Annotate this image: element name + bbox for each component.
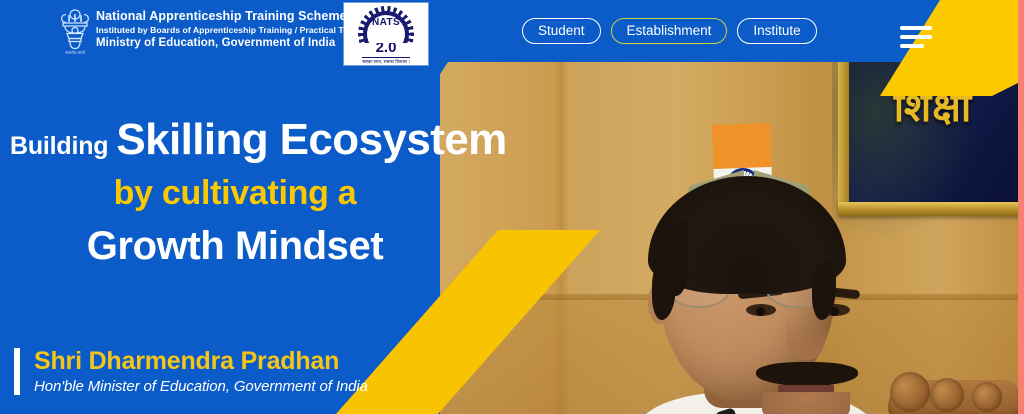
svg-text:सत्यमेव जयते: सत्यमेव जयते [65,50,85,55]
mustache [756,362,858,386]
hamburger-bar [900,35,932,39]
hamburger-menu-icon[interactable] [900,26,932,48]
headline-prefix: Building [10,132,108,160]
nav-pill-student[interactable]: Student [522,18,601,44]
hero-headline: BuildingSkilling Ecosystem by cultivatin… [0,118,500,266]
flag-saffron-band [712,123,772,169]
ashoka-lion-capital-emblem-icon: सत्यमेव जयते [55,6,95,58]
speaker-role: Hon'ble Minister of Education, Governmen… [34,378,368,395]
nats-gear-icon: NATS [355,3,417,43]
headline-line-2: by cultivating a [0,176,470,210]
nats-2-logo[interactable]: NATS 2.0 सबका साथ, सबका विकास । [344,3,428,65]
nats-logo-name: NATS [355,17,417,28]
nats-logo-motto: सबका साथ, सबका विकास । [362,57,410,65]
hamburger-bar [900,26,932,30]
speaker-caption: Shri Dharmendra Pradhan Hon'ble Minister… [14,348,368,395]
hamburger-bar [900,44,924,48]
shiksha-text: शिक्षा [842,78,1024,133]
nav-pill-institute[interactable]: Institute [737,18,816,44]
headline-line-1: BuildingSkilling Ecosystem [0,118,500,162]
nose [786,316,826,360]
nav-pill-establishment[interactable]: Establishment [611,18,728,44]
headline-line-3: Growth Mindset [0,226,470,266]
speaker-name: Shri Dharmendra Pradhan [34,348,368,376]
primary-nav: Student Establishment Institute [522,18,817,44]
site-header: सत्यमेव जयते National Apprenticeship Tra… [0,0,1024,62]
chair-scroll-carving [930,378,964,412]
minister-portrait [600,170,900,414]
nats-hero-banner: शिक्षा [0,0,1024,414]
chin [762,392,850,414]
ornate-wooden-chair-icon [888,362,1024,414]
chair-scroll-carving [972,382,1002,412]
headline-main: Skilling Ecosystem [116,115,506,164]
